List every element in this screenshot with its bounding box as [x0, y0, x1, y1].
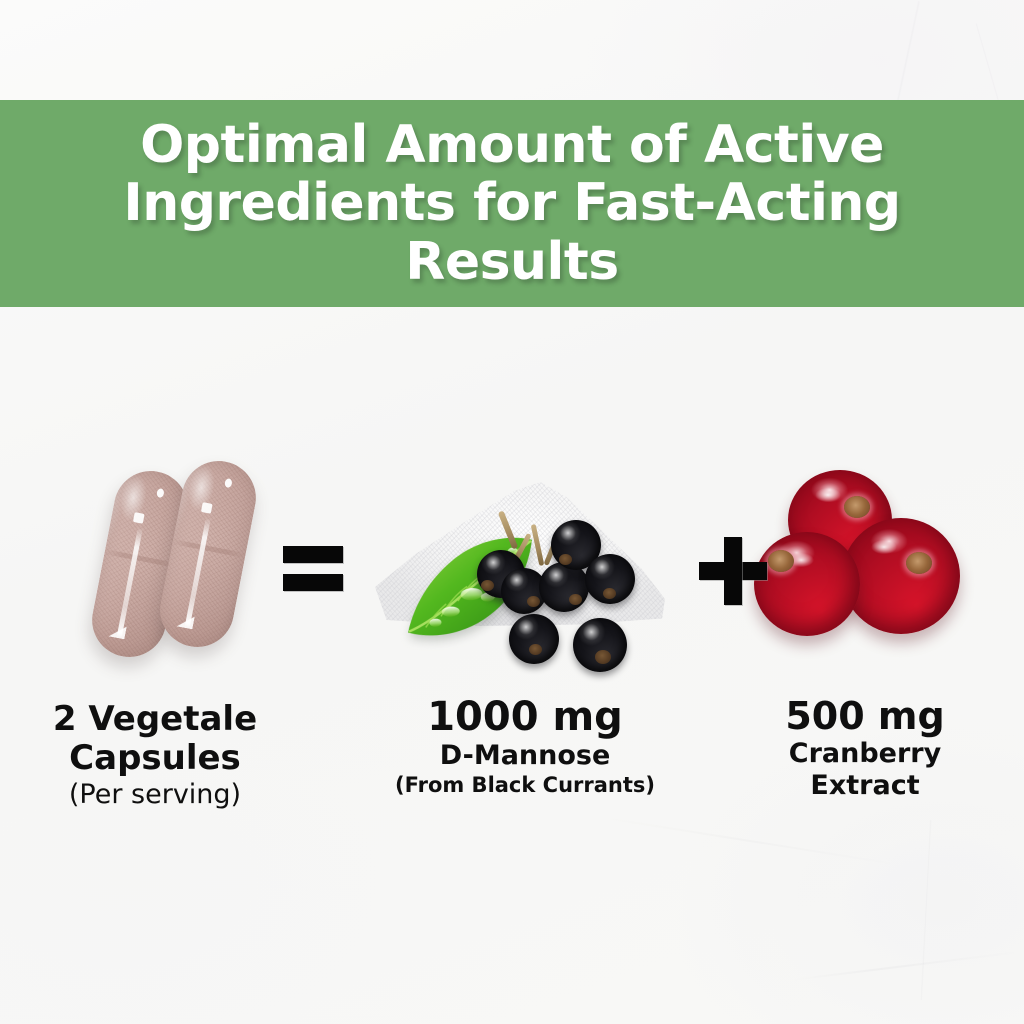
- cranberry-calyx: [844, 496, 870, 518]
- cranberry-caption: 500 mg Cranberry Extract: [740, 694, 990, 803]
- column-cranberry-extract: 500 mg Cranberry Extract: [740, 430, 990, 803]
- plus-bar-vertical: [724, 537, 742, 605]
- plus-sign-icon: [699, 536, 769, 606]
- paper-crease: [791, 951, 1020, 981]
- berry-calyx: [595, 650, 611, 664]
- cranberry-highlight: [860, 530, 908, 564]
- blackcurrant-berry: [573, 618, 627, 672]
- column-capsules: 2 Vegetale Capsules (Per serving): [10, 430, 300, 811]
- capsule-highlight-streak: [117, 527, 143, 638]
- d-mannose-source: (From Black Currants): [365, 773, 685, 798]
- berry-calyx: [569, 594, 582, 605]
- equals-bar-bottom: [283, 574, 343, 591]
- capsules-line-1: 2 Vegetale: [10, 700, 300, 739]
- blackcurrant-berry: [585, 554, 635, 604]
- two-capsules-image: [95, 452, 285, 682]
- d-mannose-amount: 1000 mg: [365, 694, 685, 740]
- capsule-highlight-dot: [156, 488, 165, 498]
- d-mannose-caption: 1000 mg D-Mannose (From Black Currants): [365, 694, 685, 798]
- banner-title: Optimal Amount of Active Ingredients for…: [32, 116, 992, 291]
- three-cranberries-image: [750, 468, 980, 668]
- capsules-caption: 2 Vegetale Capsules (Per serving): [10, 700, 300, 811]
- cranberry-amount: 500 mg: [740, 694, 990, 738]
- capsules-artwork: [10, 430, 300, 680]
- berry-calyx: [527, 596, 540, 607]
- equals-bar-top: [283, 546, 343, 563]
- cranberry-left: [754, 532, 860, 636]
- ingredient-equation-row: 2 Vegetale Capsules (Per serving): [0, 430, 1024, 830]
- berry-calyx: [559, 554, 572, 565]
- blackcurrant-cluster: [475, 506, 675, 681]
- capsule-seam: [172, 539, 246, 558]
- d-mannose-name: D-Mannose: [365, 740, 685, 772]
- header-banner: Optimal Amount of Active Ingredients for…: [0, 100, 1024, 307]
- capsule-seam: [104, 549, 178, 568]
- cranberry-right: [842, 518, 960, 634]
- capsules-per-serving: (Per serving): [10, 779, 300, 811]
- blackcurrant-berry: [539, 562, 589, 612]
- currant-stem: [498, 510, 519, 549]
- blackcurrant-berry: [509, 614, 559, 664]
- capsule-highlight-streak: [185, 517, 211, 628]
- paper-crease: [920, 820, 931, 1000]
- d-mannose-artwork: [365, 430, 685, 680]
- cranberry-artwork: [740, 430, 990, 680]
- capsule-highlight-square: [133, 512, 145, 524]
- berry-calyx: [529, 644, 542, 655]
- white-powder-with-blackcurrants-image: [365, 470, 685, 680]
- berry-calyx: [603, 588, 616, 599]
- cranberry-calyx: [768, 550, 794, 572]
- capsule-highlight-dot: [224, 478, 233, 488]
- cranberry-name-line-1: Cranberry: [740, 738, 990, 770]
- cranberry-name-line-2: Extract: [740, 770, 990, 802]
- berry-calyx: [481, 580, 494, 591]
- capsule-highlight-square: [201, 502, 213, 514]
- column-d-mannose: 1000 mg D-Mannose (From Black Currants): [365, 430, 685, 798]
- currant-stem: [531, 524, 545, 566]
- equals-sign-icon: [283, 543, 345, 595]
- infographic-canvas: Optimal Amount of Active Ingredients for…: [0, 0, 1024, 1024]
- cranberry-calyx: [906, 552, 932, 574]
- capsules-line-2: Capsules: [10, 739, 300, 778]
